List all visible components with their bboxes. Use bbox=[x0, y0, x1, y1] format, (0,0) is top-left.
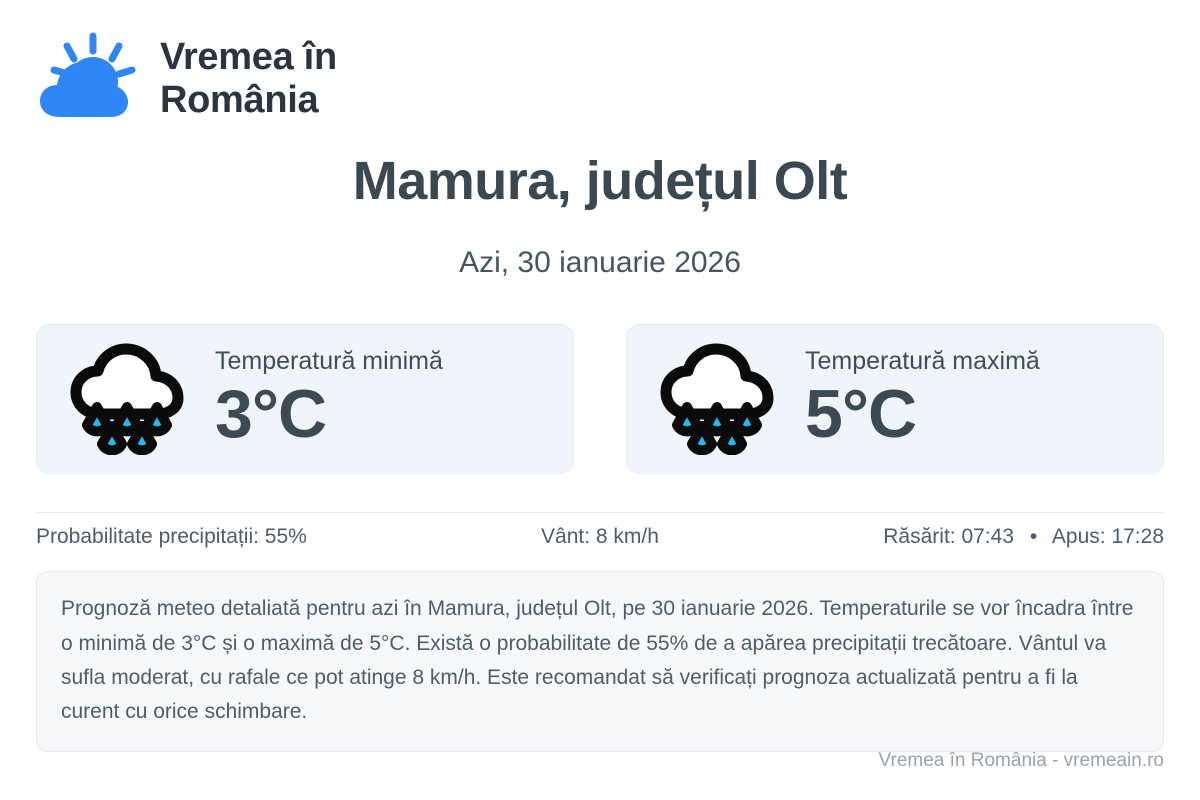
sun-times-stat: Răsărit: 07:43 • Apus: 17:28 bbox=[788, 525, 1164, 549]
footer-credit: Vremea în România - vremeain.ro bbox=[879, 750, 1164, 772]
min-temperature-label: Temperatură minimă bbox=[215, 348, 443, 376]
temperature-cards: Temperatură minimă 3°C Temperatură maxim… bbox=[36, 324, 1164, 474]
rain-cloud-icon bbox=[657, 343, 781, 455]
sun-cloud-icon bbox=[36, 31, 142, 127]
raindrops bbox=[87, 407, 167, 450]
max-temperature-label: Temperatură maximă bbox=[805, 348, 1040, 376]
sun-separator: • bbox=[1030, 525, 1037, 549]
weather-page: Vremea în România Mamura, județul Olt Az… bbox=[0, 0, 1200, 800]
wind-stat: Vânt: 8 km/h bbox=[412, 525, 788, 549]
rain-cloud-icon bbox=[67, 343, 191, 455]
min-temperature-value: 3°C bbox=[215, 378, 443, 451]
precipitation-stat: Probabilitate precipitații: 55% bbox=[36, 525, 412, 549]
max-temperature-value: 5°C bbox=[805, 378, 1040, 451]
date-subtitle: Azi, 30 ianuarie 2026 bbox=[36, 246, 1164, 280]
raindrops bbox=[677, 407, 757, 450]
min-temperature-texts: Temperatură minimă 3°C bbox=[215, 348, 443, 451]
sunset-time: Apus: 17:28 bbox=[1052, 525, 1164, 548]
max-temperature-card: Temperatură maximă 5°C bbox=[626, 324, 1164, 474]
sunrise-time: Răsărit: 07:43 bbox=[883, 525, 1014, 548]
min-temperature-card: Temperatură minimă 3°C bbox=[36, 324, 574, 474]
site-brand: Vremea în România bbox=[36, 0, 1164, 110]
page-title: Mamura, județul Olt bbox=[36, 152, 1164, 210]
brand-name: Vremea în România bbox=[160, 36, 337, 121]
max-temperature-texts: Temperatură maximă 5°C bbox=[805, 348, 1040, 451]
forecast-description: Prognoză meteo detaliată pentru azi în M… bbox=[36, 571, 1164, 751]
weather-stats: Probabilitate precipitații: 55% Vânt: 8 … bbox=[36, 513, 1164, 561]
